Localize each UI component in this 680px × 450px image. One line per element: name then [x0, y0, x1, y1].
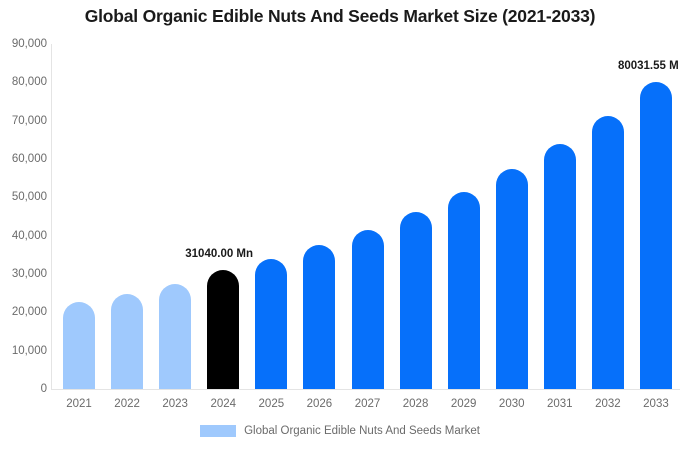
x-axis-tick-2029: 2029: [440, 398, 488, 410]
legend-item-label: Global Organic Edible Nuts And Seeds Mar…: [244, 425, 480, 437]
bars-layer: 2021202220232024202520262027202820292030…: [0, 0, 680, 450]
bar-2031[interactable]: [544, 144, 576, 389]
value-label-2033: 80031.55 M: [618, 60, 679, 72]
bar-2022[interactable]: [111, 294, 143, 389]
value-label-2024: 31040.00 Mn: [185, 248, 253, 260]
bar-2032[interactable]: [592, 116, 624, 389]
bar-2023[interactable]: [159, 284, 191, 389]
x-axis-tick-2021: 2021: [55, 398, 103, 410]
bar-2027[interactable]: [352, 230, 384, 389]
bar-2021[interactable]: [63, 302, 95, 389]
bar-2029[interactable]: [448, 192, 480, 389]
legend-swatch-icon: [200, 425, 236, 437]
x-axis-tick-2023: 2023: [151, 398, 199, 410]
x-axis-tick-2024: 2024: [199, 398, 247, 410]
chart-legend: Global Organic Edible Nuts And Seeds Mar…: [0, 425, 680, 437]
x-axis-tick-2031: 2031: [536, 398, 584, 410]
bar-2025[interactable]: [255, 259, 287, 389]
x-axis-tick-2030: 2030: [488, 398, 536, 410]
bar-2030[interactable]: [496, 169, 528, 389]
bar-2026[interactable]: [303, 245, 335, 389]
x-axis-tick-2027: 2027: [343, 398, 391, 410]
x-axis-tick-2033: 2033: [632, 398, 680, 410]
x-axis-tick-2025: 2025: [247, 398, 295, 410]
chart-container: Global Organic Edible Nuts And Seeds Mar…: [0, 0, 680, 450]
x-axis-tick-2028: 2028: [392, 398, 440, 410]
x-axis-tick-2022: 2022: [103, 398, 151, 410]
bar-2033[interactable]: [640, 82, 672, 389]
x-axis-tick-2026: 2026: [295, 398, 343, 410]
x-axis-tick-2032: 2032: [584, 398, 632, 410]
bar-2024[interactable]: [207, 270, 239, 389]
bar-2028[interactable]: [400, 212, 432, 389]
